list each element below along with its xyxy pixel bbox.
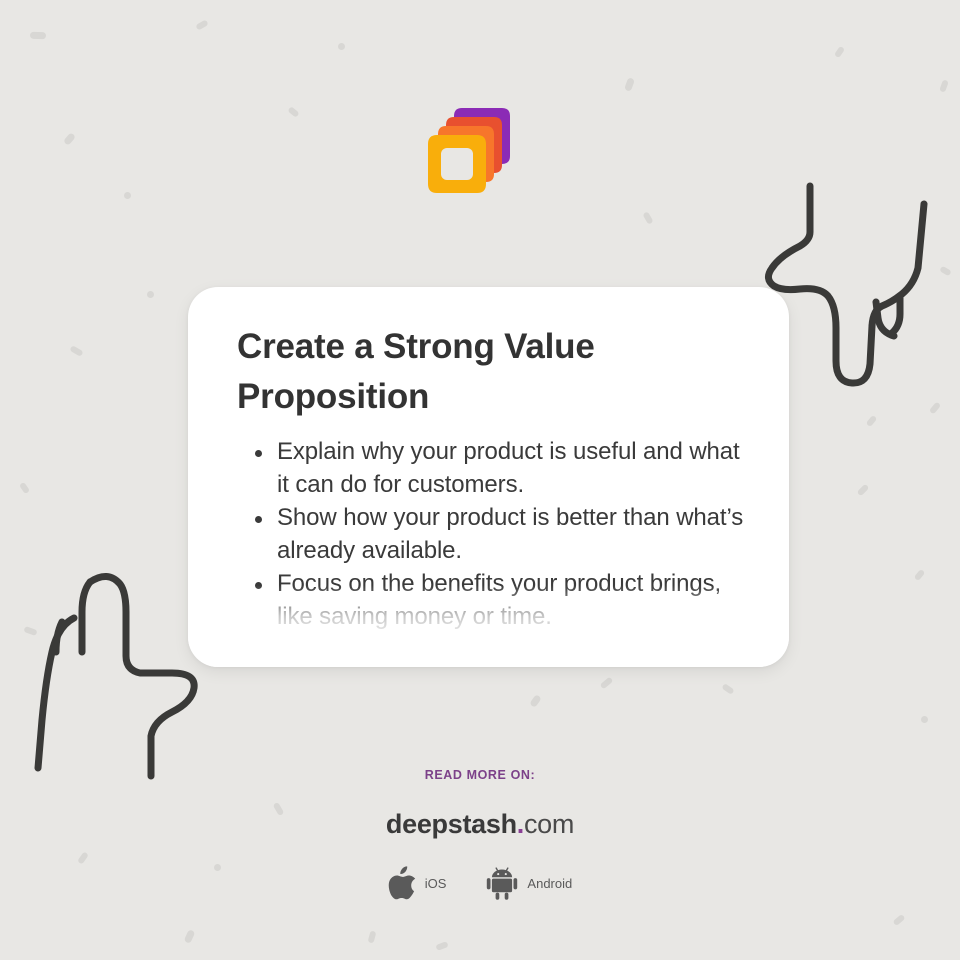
android-icon	[486, 866, 518, 900]
speckle-mark	[857, 484, 870, 497]
speckle-mark	[287, 106, 299, 118]
speckle-mark	[69, 345, 83, 357]
speckle-mark	[721, 683, 734, 695]
ios-label: iOS	[425, 876, 447, 891]
speckle-mark	[19, 482, 30, 494]
speckle-mark	[368, 930, 377, 943]
deepstash-wordmark[interactable]: deepstash.com	[0, 809, 960, 840]
read-more-label: READ MORE ON:	[0, 768, 960, 782]
apple-icon	[388, 866, 416, 900]
speckle-mark	[939, 266, 952, 277]
list-item: Show how your product is better than wha…	[237, 501, 749, 567]
ios-badge[interactable]: iOS	[388, 866, 447, 900]
speckle-mark	[929, 401, 941, 414]
speckle-mark	[63, 132, 76, 146]
wordmark-dot: .	[517, 809, 524, 839]
list-item: Explain why your product is useful and w…	[237, 435, 749, 501]
speckle-mark	[147, 291, 154, 298]
content-card: Create a Strong Value Proposition Explai…	[188, 287, 789, 667]
wordmark-name: deepstash	[386, 809, 517, 839]
android-label: Android	[527, 876, 572, 891]
android-badge[interactable]: Android	[486, 866, 572, 900]
speckle-mark	[834, 46, 845, 58]
list-item: Focus on the benefits your product bring…	[237, 567, 749, 633]
speckle-mark	[529, 694, 542, 708]
page-title: Create a Strong Value Proposition	[237, 322, 677, 421]
speckle-mark	[195, 19, 208, 30]
speckle-mark	[184, 929, 196, 944]
store-badges: iOS	[0, 866, 960, 900]
speckle-mark	[624, 77, 635, 92]
speckle-mark	[435, 941, 448, 951]
speckle-mark	[30, 32, 46, 40]
speckle-mark	[600, 677, 614, 690]
speckle-mark	[866, 415, 878, 427]
wordmark-tld: com	[524, 809, 574, 839]
card-content: Create a Strong Value Proposition Explai…	[188, 287, 789, 667]
footer: READ MORE ON: deepstash.com iOS	[0, 768, 960, 900]
speckle-mark	[939, 79, 949, 92]
speckle-mark	[914, 569, 926, 581]
speckle-mark	[642, 211, 653, 224]
social-card-canvas: Create a Strong Value Proposition Explai…	[0, 0, 960, 960]
speckle-mark	[921, 716, 928, 723]
bullet-list: Explain why your product is useful and w…	[237, 435, 749, 633]
speckle-mark	[338, 43, 345, 50]
speckle-mark	[892, 914, 905, 926]
speckle-mark	[124, 192, 131, 199]
logo-front-cutout	[441, 148, 473, 180]
deepstash-logo	[424, 100, 524, 200]
speckle-mark	[23, 626, 37, 636]
